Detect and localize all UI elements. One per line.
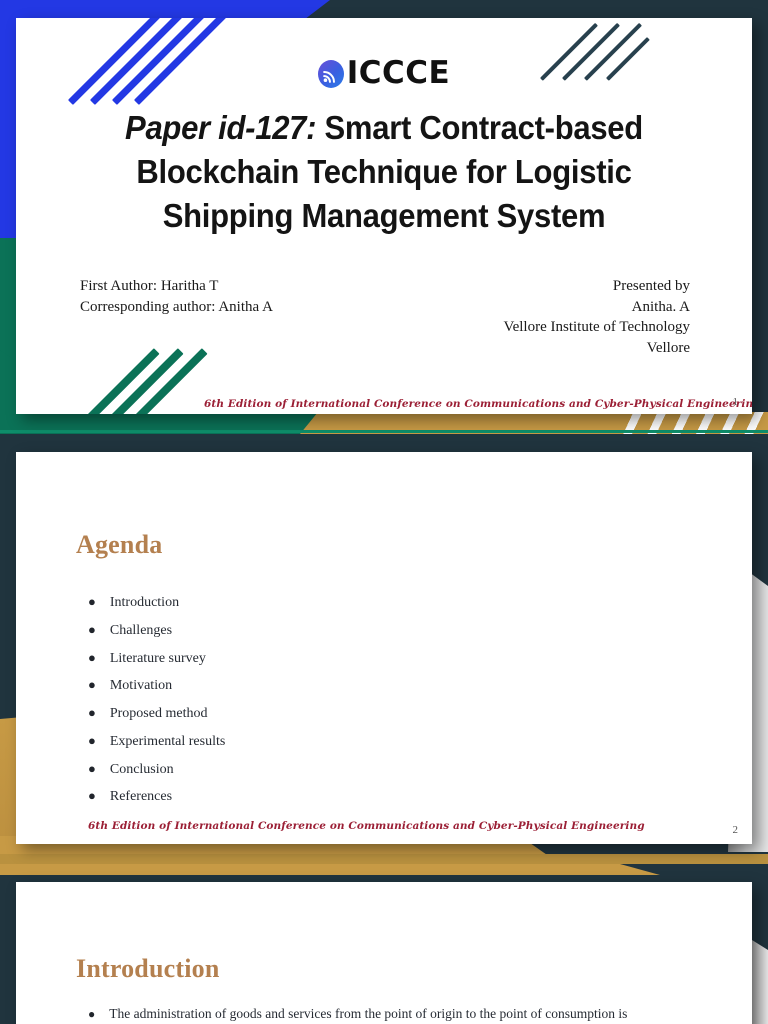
- title-line-1-rest: Smart Contract-based: [316, 109, 643, 146]
- first-author-line: First Author: Haritha T: [80, 276, 273, 297]
- gold-bottom-edge: [0, 854, 768, 864]
- bullet-icon: ●: [88, 595, 96, 608]
- presented-by-label: Presented by: [503, 276, 690, 297]
- slide-3-page: Introduction ● The administration of goo…: [16, 882, 752, 1024]
- author-block: First Author: Haritha T Corresponding au…: [80, 276, 273, 317]
- list-item-label: Experimental results: [110, 731, 225, 752]
- list-item: ●Motivation: [88, 675, 225, 696]
- corresponding-author-line: Corresponding author: Anitha A: [80, 297, 273, 318]
- presenter-block: Presented by Anitha. A Vellore Institute…: [503, 276, 690, 359]
- bullet-icon: ●: [88, 762, 96, 775]
- list-item: ●Challenges: [88, 620, 225, 641]
- list-item-label: The administration of goods and services…: [109, 1004, 627, 1024]
- slide-2: Agenda ●Introduction ●Challenges ●Litera…: [0, 434, 768, 864]
- list-item: ●Proposed method: [88, 703, 225, 724]
- list-item-label: Proposed method: [110, 703, 208, 724]
- slide-1: ICCCE Paper id-127: Smart Contract-based…: [0, 0, 768, 434]
- bullet-icon: ●: [88, 1005, 95, 1024]
- slide-3: Introduction ● The administration of goo…: [0, 864, 768, 1024]
- bullet-icon: ●: [88, 651, 96, 664]
- bullet-icon: ●: [88, 734, 96, 747]
- bullet-icon: ●: [88, 706, 96, 719]
- wifi-signal-icon: [318, 60, 344, 88]
- list-item: ● The administration of goods and servic…: [88, 1004, 722, 1024]
- presentation-document: ICCCE Paper id-127: Smart Contract-based…: [0, 0, 768, 1024]
- list-item-label: References: [110, 786, 172, 807]
- paper-id-text: Paper id-127:: [125, 109, 316, 146]
- page-number: 2: [733, 824, 739, 836]
- bullet-icon: ●: [88, 789, 96, 802]
- presenter-institute: Vellore Institute of Technology: [503, 317, 690, 338]
- iccce-logo: ICCCE: [16, 58, 752, 89]
- bullet-icon: ●: [88, 623, 96, 636]
- list-item: ●References: [88, 786, 225, 807]
- title-line-3: Shipping Management System: [61, 194, 708, 238]
- conference-footer: 6th Edition of International Conference …: [204, 398, 752, 410]
- title-line-2: Blockchain Technique for Logistic: [61, 150, 708, 194]
- list-item: ●Conclusion: [88, 759, 225, 780]
- page-number: 1: [733, 396, 739, 408]
- list-item: ●Literature survey: [88, 648, 225, 669]
- agenda-heading: Agenda: [76, 530, 162, 560]
- conference-footer: 6th Edition of International Conference …: [88, 820, 645, 832]
- teal-edge-line: [0, 430, 768, 433]
- list-item-label: Challenges: [110, 620, 172, 641]
- iccce-wordmark: ICCCE: [347, 58, 450, 89]
- presenter-city: Vellore: [503, 338, 690, 359]
- list-item-label: Literature survey: [110, 648, 206, 669]
- list-item: ●Introduction: [88, 592, 225, 613]
- presenter-name: Anitha. A: [503, 297, 690, 318]
- introduction-heading: Introduction: [76, 954, 220, 984]
- slide-1-title: Paper id-127: Smart Contract-based Block…: [61, 106, 708, 238]
- slide-1-page: ICCCE Paper id-127: Smart Contract-based…: [16, 18, 752, 414]
- bullet-icon: ●: [88, 678, 96, 691]
- list-item: ●Experimental results: [88, 731, 225, 752]
- list-item-label: Conclusion: [110, 759, 174, 780]
- list-item-label: Introduction: [110, 592, 179, 613]
- list-item-label: Motivation: [110, 675, 172, 696]
- agenda-list: ●Introduction ●Challenges ●Literature su…: [88, 592, 225, 814]
- slide-2-page: Agenda ●Introduction ●Challenges ●Litera…: [16, 452, 752, 844]
